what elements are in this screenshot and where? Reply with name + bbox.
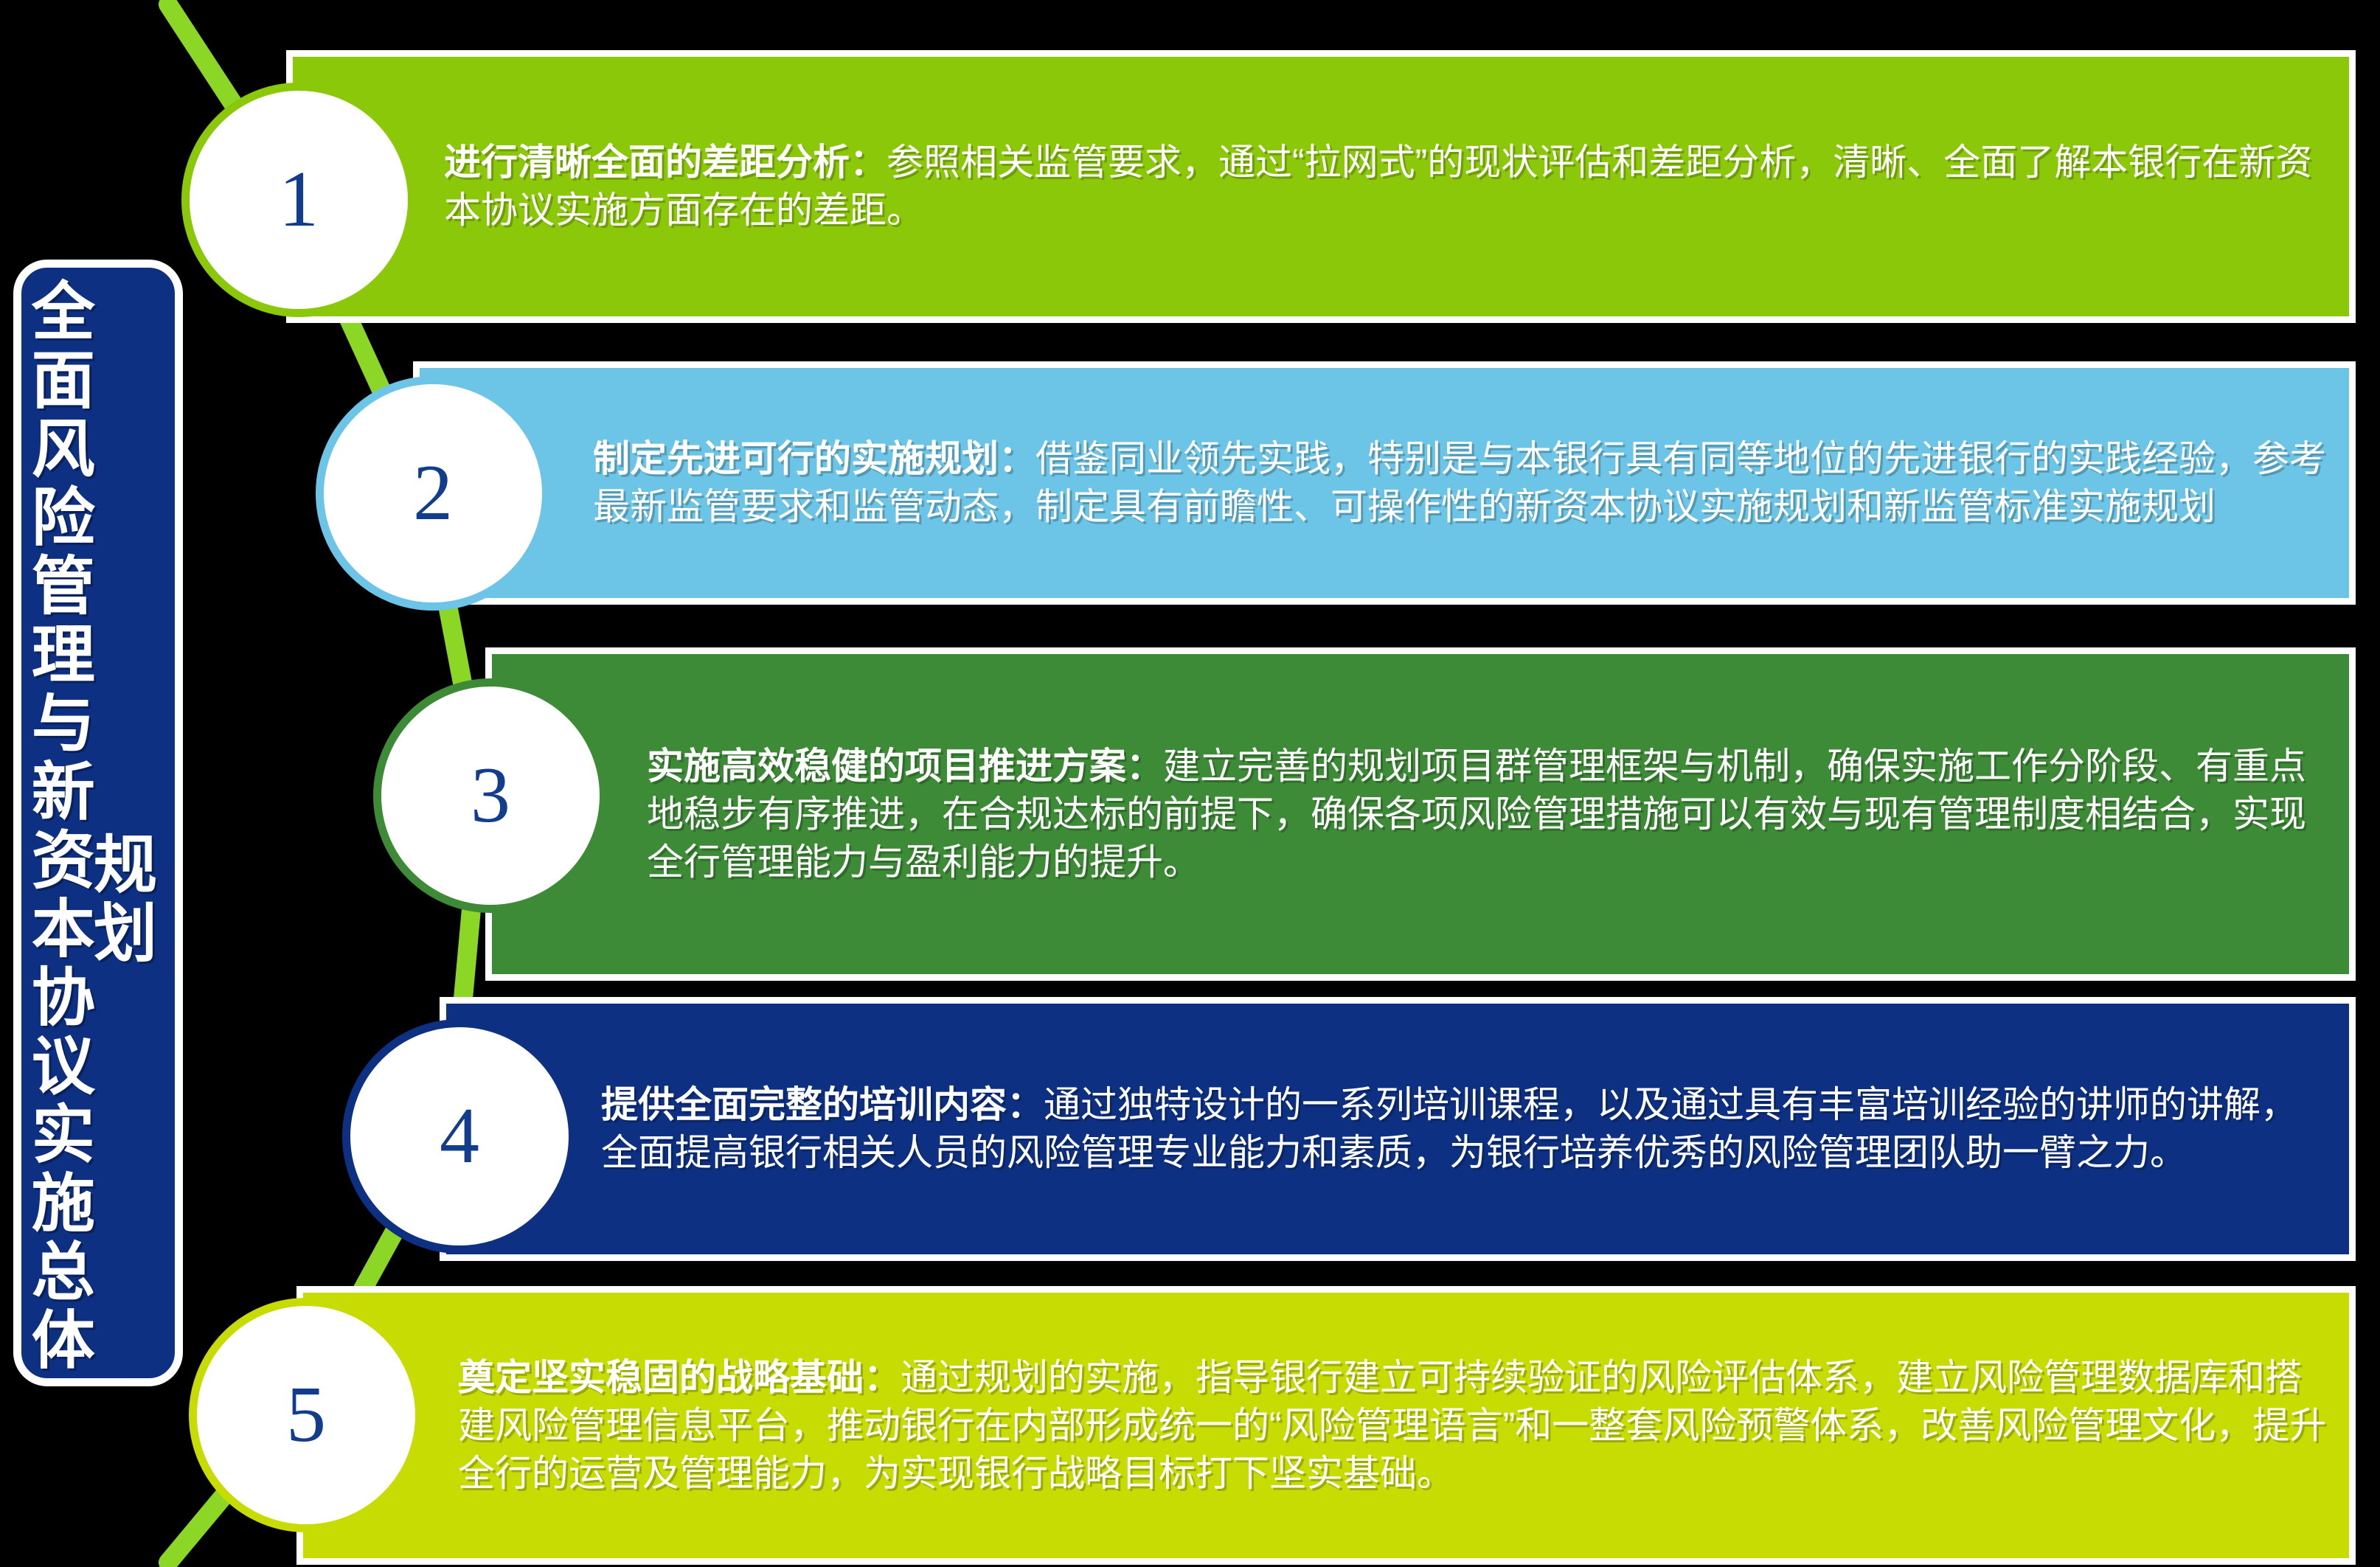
step-panel-5-heading: 奠定坚实稳固的战略基础： bbox=[458, 1357, 901, 1398]
step-panel-1-text: 进行清晰全面的差距分析：参照相关监管要求，通过“拉网式”的现状评估和差距分析，清… bbox=[293, 139, 2349, 234]
step-panel-2-heading: 制定先进可行的实施规划： bbox=[593, 438, 1035, 479]
sidebar-title-column-2: 规划 bbox=[88, 831, 150, 968]
sidebar-title-column-1: 全面风险管理与新资本协议实施总体 bbox=[26, 278, 88, 1375]
step-panel-5-text: 奠定坚实稳固的战略基础：通过规划的实施，指导银行建立可持续验证的风险评估体系，建… bbox=[303, 1354, 2349, 1498]
step-number-circle-4[interactable]: 4 bbox=[342, 1019, 577, 1254]
step-panel-3[interactable]: 实施高效稳健的项目推进方案：建立完善的规划项目群管理框架与机制，确保实施工作分阶… bbox=[485, 647, 2356, 981]
step-panel-2[interactable]: 制定先进可行的实施规划：借鉴同业领先实践，特别是与本银行具有同等地位的先进银行的… bbox=[413, 361, 2356, 605]
step-panel-2-text: 制定先进可行的实施规划：借鉴同业领先实践，特别是与本银行具有同等地位的先进银行的… bbox=[420, 435, 2349, 531]
sidebar-title-panel: 规划 全面风险管理与新资本协议实施总体 bbox=[13, 260, 183, 1386]
step-number-circle-2[interactable]: 2 bbox=[316, 376, 550, 611]
step-panel-4[interactable]: 提供全面完整的培训内容：通过独特设计的一系列培训课程，以及通过具有丰富培训经验的… bbox=[440, 997, 2356, 1261]
step-panel-5[interactable]: 奠定坚实稳固的战略基础：通过规划的实施，指导银行建立可持续验证的风险评估体系，建… bbox=[296, 1286, 2356, 1565]
slide-canvas: 规划 全面风险管理与新资本协议实施总体 进行清晰全面的差距分析：参照相关监管要求… bbox=[0, 0, 2380, 1567]
step-panel-1[interactable]: 进行清晰全面的差距分析：参照相关监管要求，通过“拉网式”的现状评估和差距分析，清… bbox=[286, 50, 2356, 323]
step-panel-4-heading: 提供全面完整的培训内容： bbox=[601, 1084, 1044, 1125]
step-panel-4-text: 提供全面完整的培训内容：通过独特设计的一系列培训课程，以及通过具有丰富培训经验的… bbox=[446, 1081, 2349, 1177]
step-number-circle-5[interactable]: 5 bbox=[189, 1298, 423, 1532]
step-panel-3-heading: 实施高效稳健的项目推进方案： bbox=[647, 746, 1163, 787]
step-number-circle-3[interactable]: 3 bbox=[373, 678, 608, 913]
step-number-circle-1[interactable]: 1 bbox=[181, 83, 416, 317]
step-panel-1-heading: 进行清晰全面的差距分析： bbox=[444, 142, 887, 183]
step-panel-3-text: 实施高效稳健的项目推进方案：建立完善的规划项目群管理框架与机制，确保实施工作分阶… bbox=[492, 743, 2349, 886]
